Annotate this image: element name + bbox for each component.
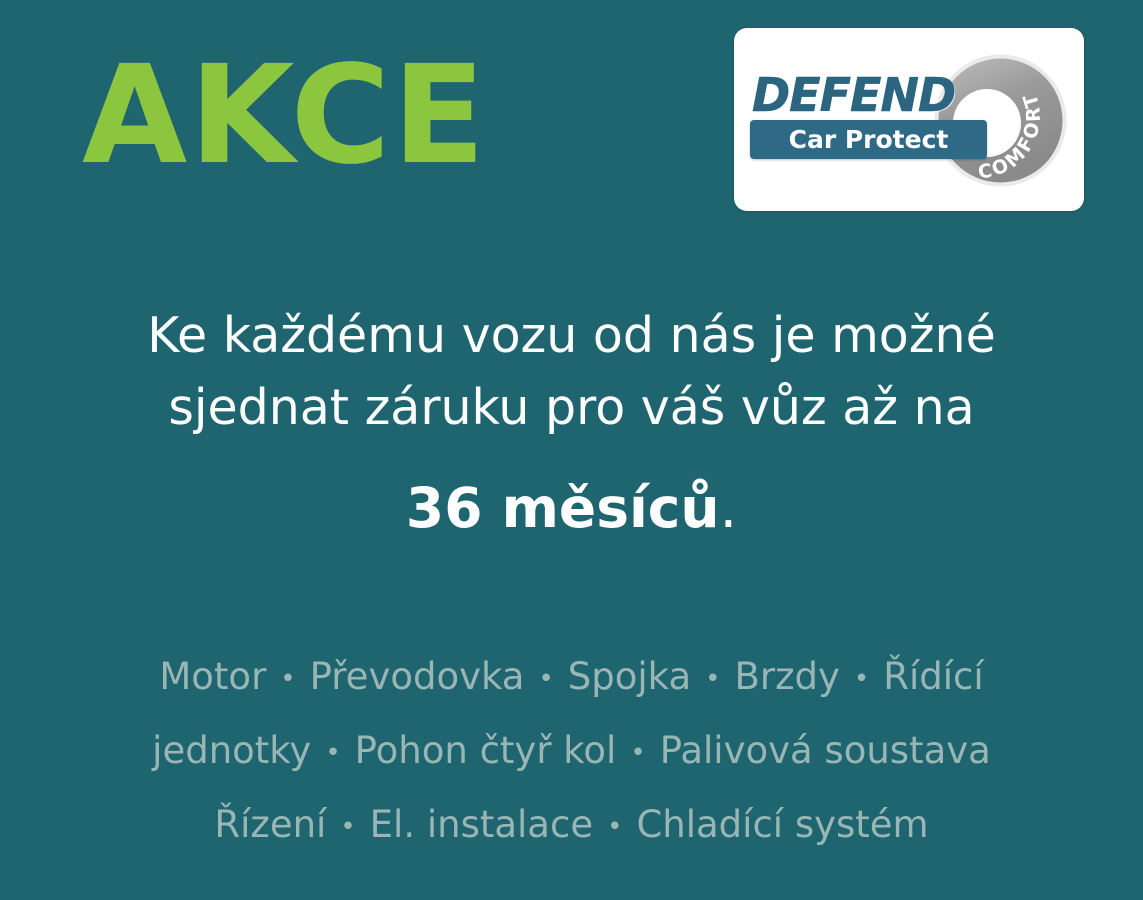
- coverage-item: Převodovka: [310, 655, 525, 698]
- logo-brand-text: DEFEND: [752, 72, 955, 118]
- coverage-item: Řízení: [214, 803, 326, 846]
- coverage-item: Pohon čtyř kol: [355, 729, 617, 772]
- page-title: AKCE: [82, 48, 487, 184]
- promo-description: Ke každému vozu od nás je možné sjednat …: [0, 300, 1143, 444]
- promo-description-line-2: sjednat záruku pro váš vůz až na: [0, 372, 1143, 444]
- defend-car-protect-logo: COMFORT DEFEND Car Protect: [734, 28, 1084, 211]
- coverage-item: Chladící systém: [636, 803, 928, 846]
- coverage-item: jednotky: [152, 729, 311, 772]
- coverage-item: El. instalace: [370, 803, 593, 846]
- promo-duration-highlight: 36 měsíců.: [0, 474, 1143, 542]
- promo-description-line-1: Ke každému vozu od nás je možné: [0, 300, 1143, 372]
- coverage-item: Řídící: [883, 655, 983, 698]
- bullet-separator-icon: •: [340, 814, 355, 840]
- bullet-separator-icon: •: [630, 740, 645, 766]
- coverage-item: Brzdy: [734, 655, 839, 698]
- coverage-line-3: Řízení•El. instalace•Chladící systém: [60, 788, 1083, 862]
- logo-tagline-text: Car Protect: [750, 127, 987, 152]
- coverage-item: Motor: [159, 655, 266, 698]
- bullet-separator-icon: •: [280, 666, 295, 692]
- bullet-separator-icon: •: [705, 666, 720, 692]
- bullet-separator-icon: •: [325, 740, 340, 766]
- coverage-item: Palivová soustava: [660, 729, 991, 772]
- promo-duration-value: 36 měsíců: [406, 476, 720, 540]
- promo-banner: AKCE COMF: [0, 0, 1143, 900]
- coverage-line-2: jednotky•Pohon čtyř kol•Palivová soustav…: [60, 714, 1083, 788]
- coverage-item: Spojka: [568, 655, 691, 698]
- bullet-separator-icon: •: [607, 814, 622, 840]
- bullet-separator-icon: •: [854, 666, 869, 692]
- coverage-line-1: Motor•Převodovka•Spojka•Brzdy•Řídící: [60, 640, 1083, 714]
- logo-inner: COMFORT DEFEND Car Protect: [734, 28, 1084, 211]
- bullet-separator-icon: •: [538, 666, 553, 692]
- promo-duration-punctuation: .: [720, 476, 737, 540]
- coverage-list: Motor•Převodovka•Spojka•Brzdy•Řídící jed…: [60, 640, 1083, 862]
- logo-tagline-bar: Car Protect: [750, 120, 987, 159]
